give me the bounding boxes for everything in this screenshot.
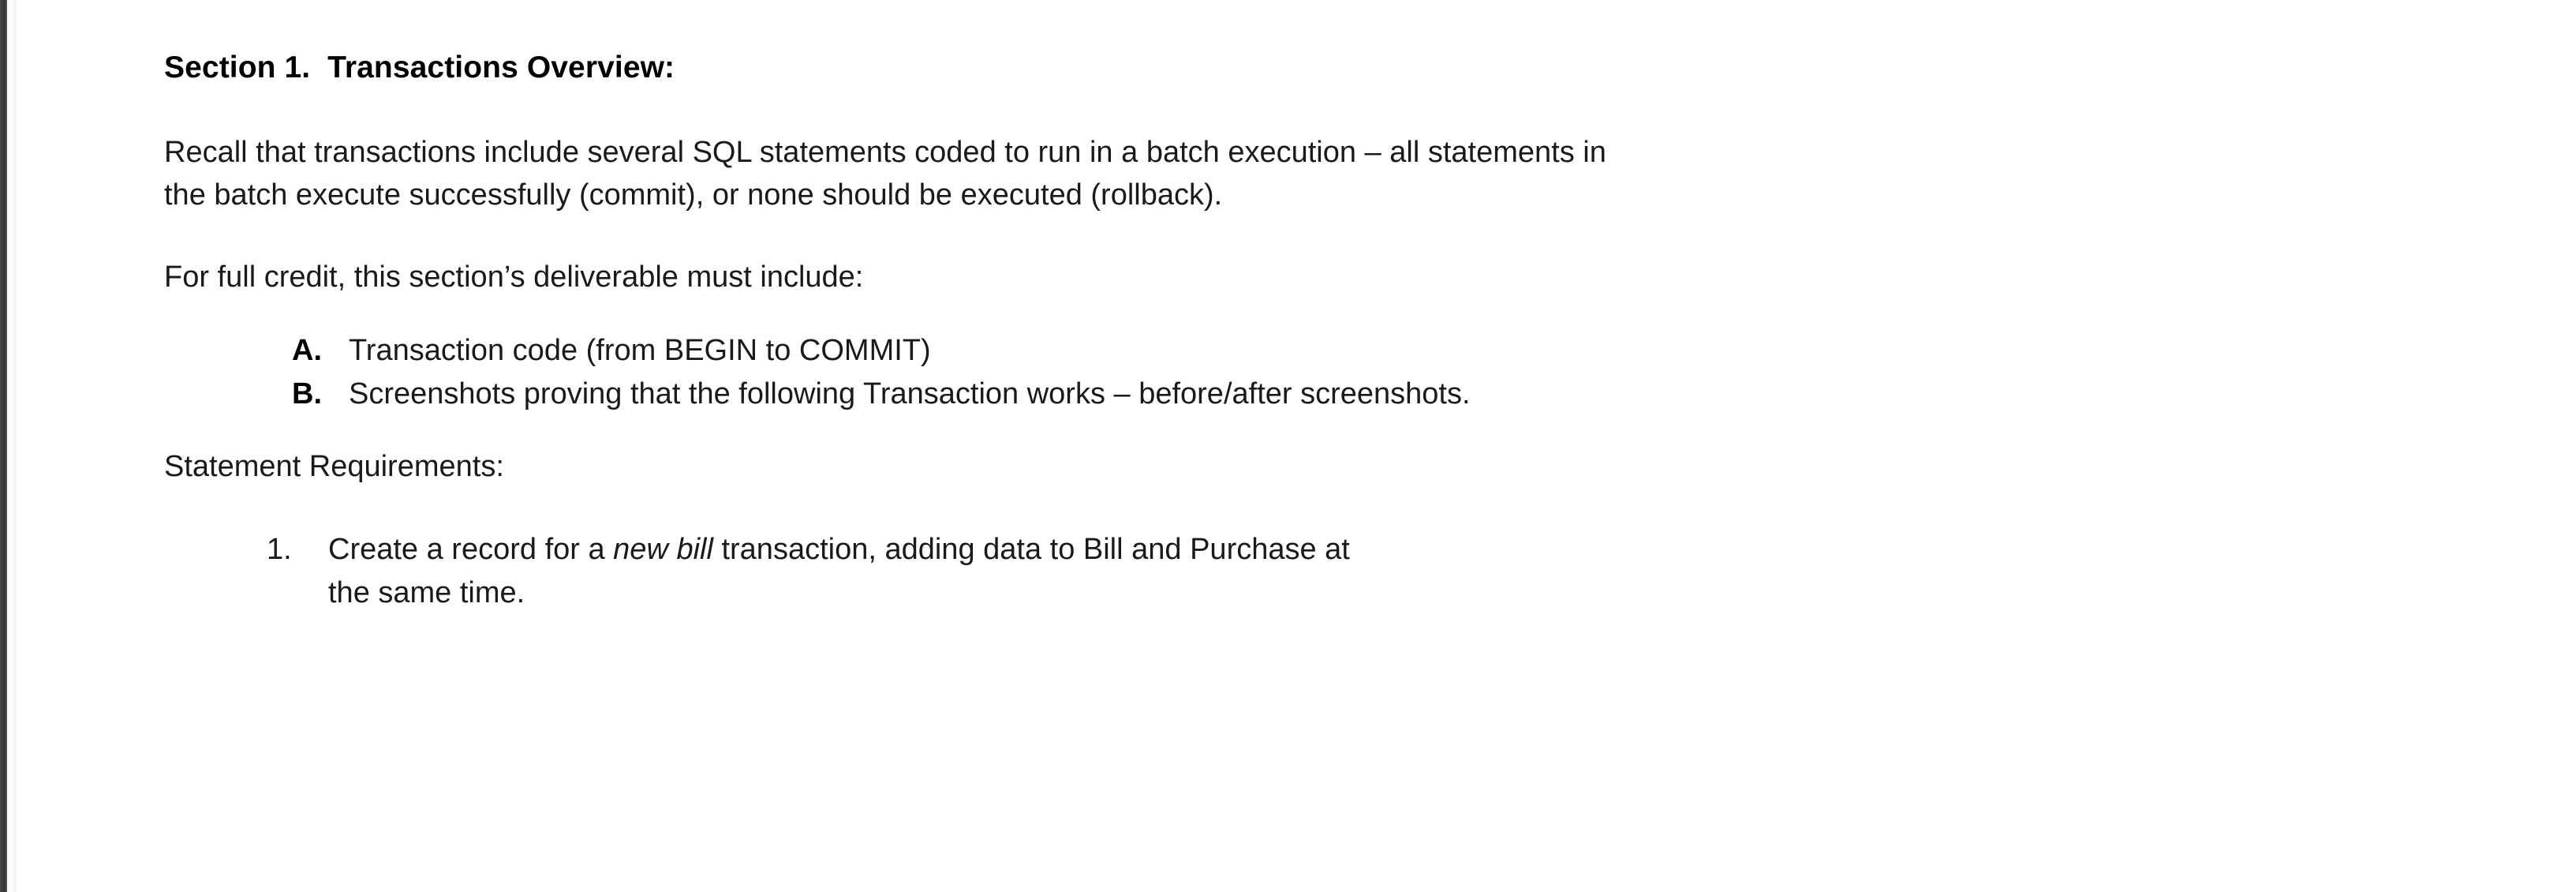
requirement-text-before-emphasis: Create a record for a (328, 533, 613, 566)
deliverables-list: A. Transaction code (from BEGIN to COMMI… (164, 329, 2499, 416)
spacer (164, 299, 2499, 329)
list-marker: A. (292, 329, 349, 373)
credit-lead-in-text: For full credit, this section’s delivera… (164, 257, 2499, 299)
document-page: Section 1. Transactions Overview: Recall… (0, 0, 2576, 892)
list-marker: B. (292, 373, 349, 416)
intro-paragraph-line-1: Recall that transactions include several… (164, 132, 2499, 174)
list-marker: 1. (267, 528, 328, 572)
requirement-emphasis-text: new bill (613, 533, 713, 566)
spacer (164, 416, 2499, 446)
spacer (164, 489, 2499, 528)
list-item: A. Transaction code (from BEGIN to COMMI… (164, 329, 2499, 373)
spacer (164, 88, 2499, 132)
list-item-text: Screenshots proving that the following T… (349, 373, 2499, 416)
list-item-text: Transaction code (from BEGIN to COMMIT) (349, 329, 2499, 373)
requirements-heading: Statement Requirements: (164, 446, 2499, 489)
left-edge-bar (0, 0, 7, 892)
left-margin-gutter (7, 0, 17, 892)
list-item: B. Screenshots proving that the followin… (164, 373, 2499, 416)
page-content-area: Section 1. Transactions Overview: Recall… (17, 0, 2576, 892)
list-item-text: Create a record for a new bill transacti… (328, 528, 1370, 615)
document-text-flow: Section 1. Transactions Overview: Recall… (164, 0, 2499, 615)
list-item: 1. Create a record for a new bill transa… (164, 528, 2499, 615)
spacer (164, 217, 2499, 257)
section-heading: Section 1. Transactions Overview: (164, 0, 2499, 88)
requirements-list: 1. Create a record for a new bill transa… (164, 528, 2499, 615)
intro-paragraph-line-2: the batch execute successfully (commit),… (164, 174, 2499, 217)
